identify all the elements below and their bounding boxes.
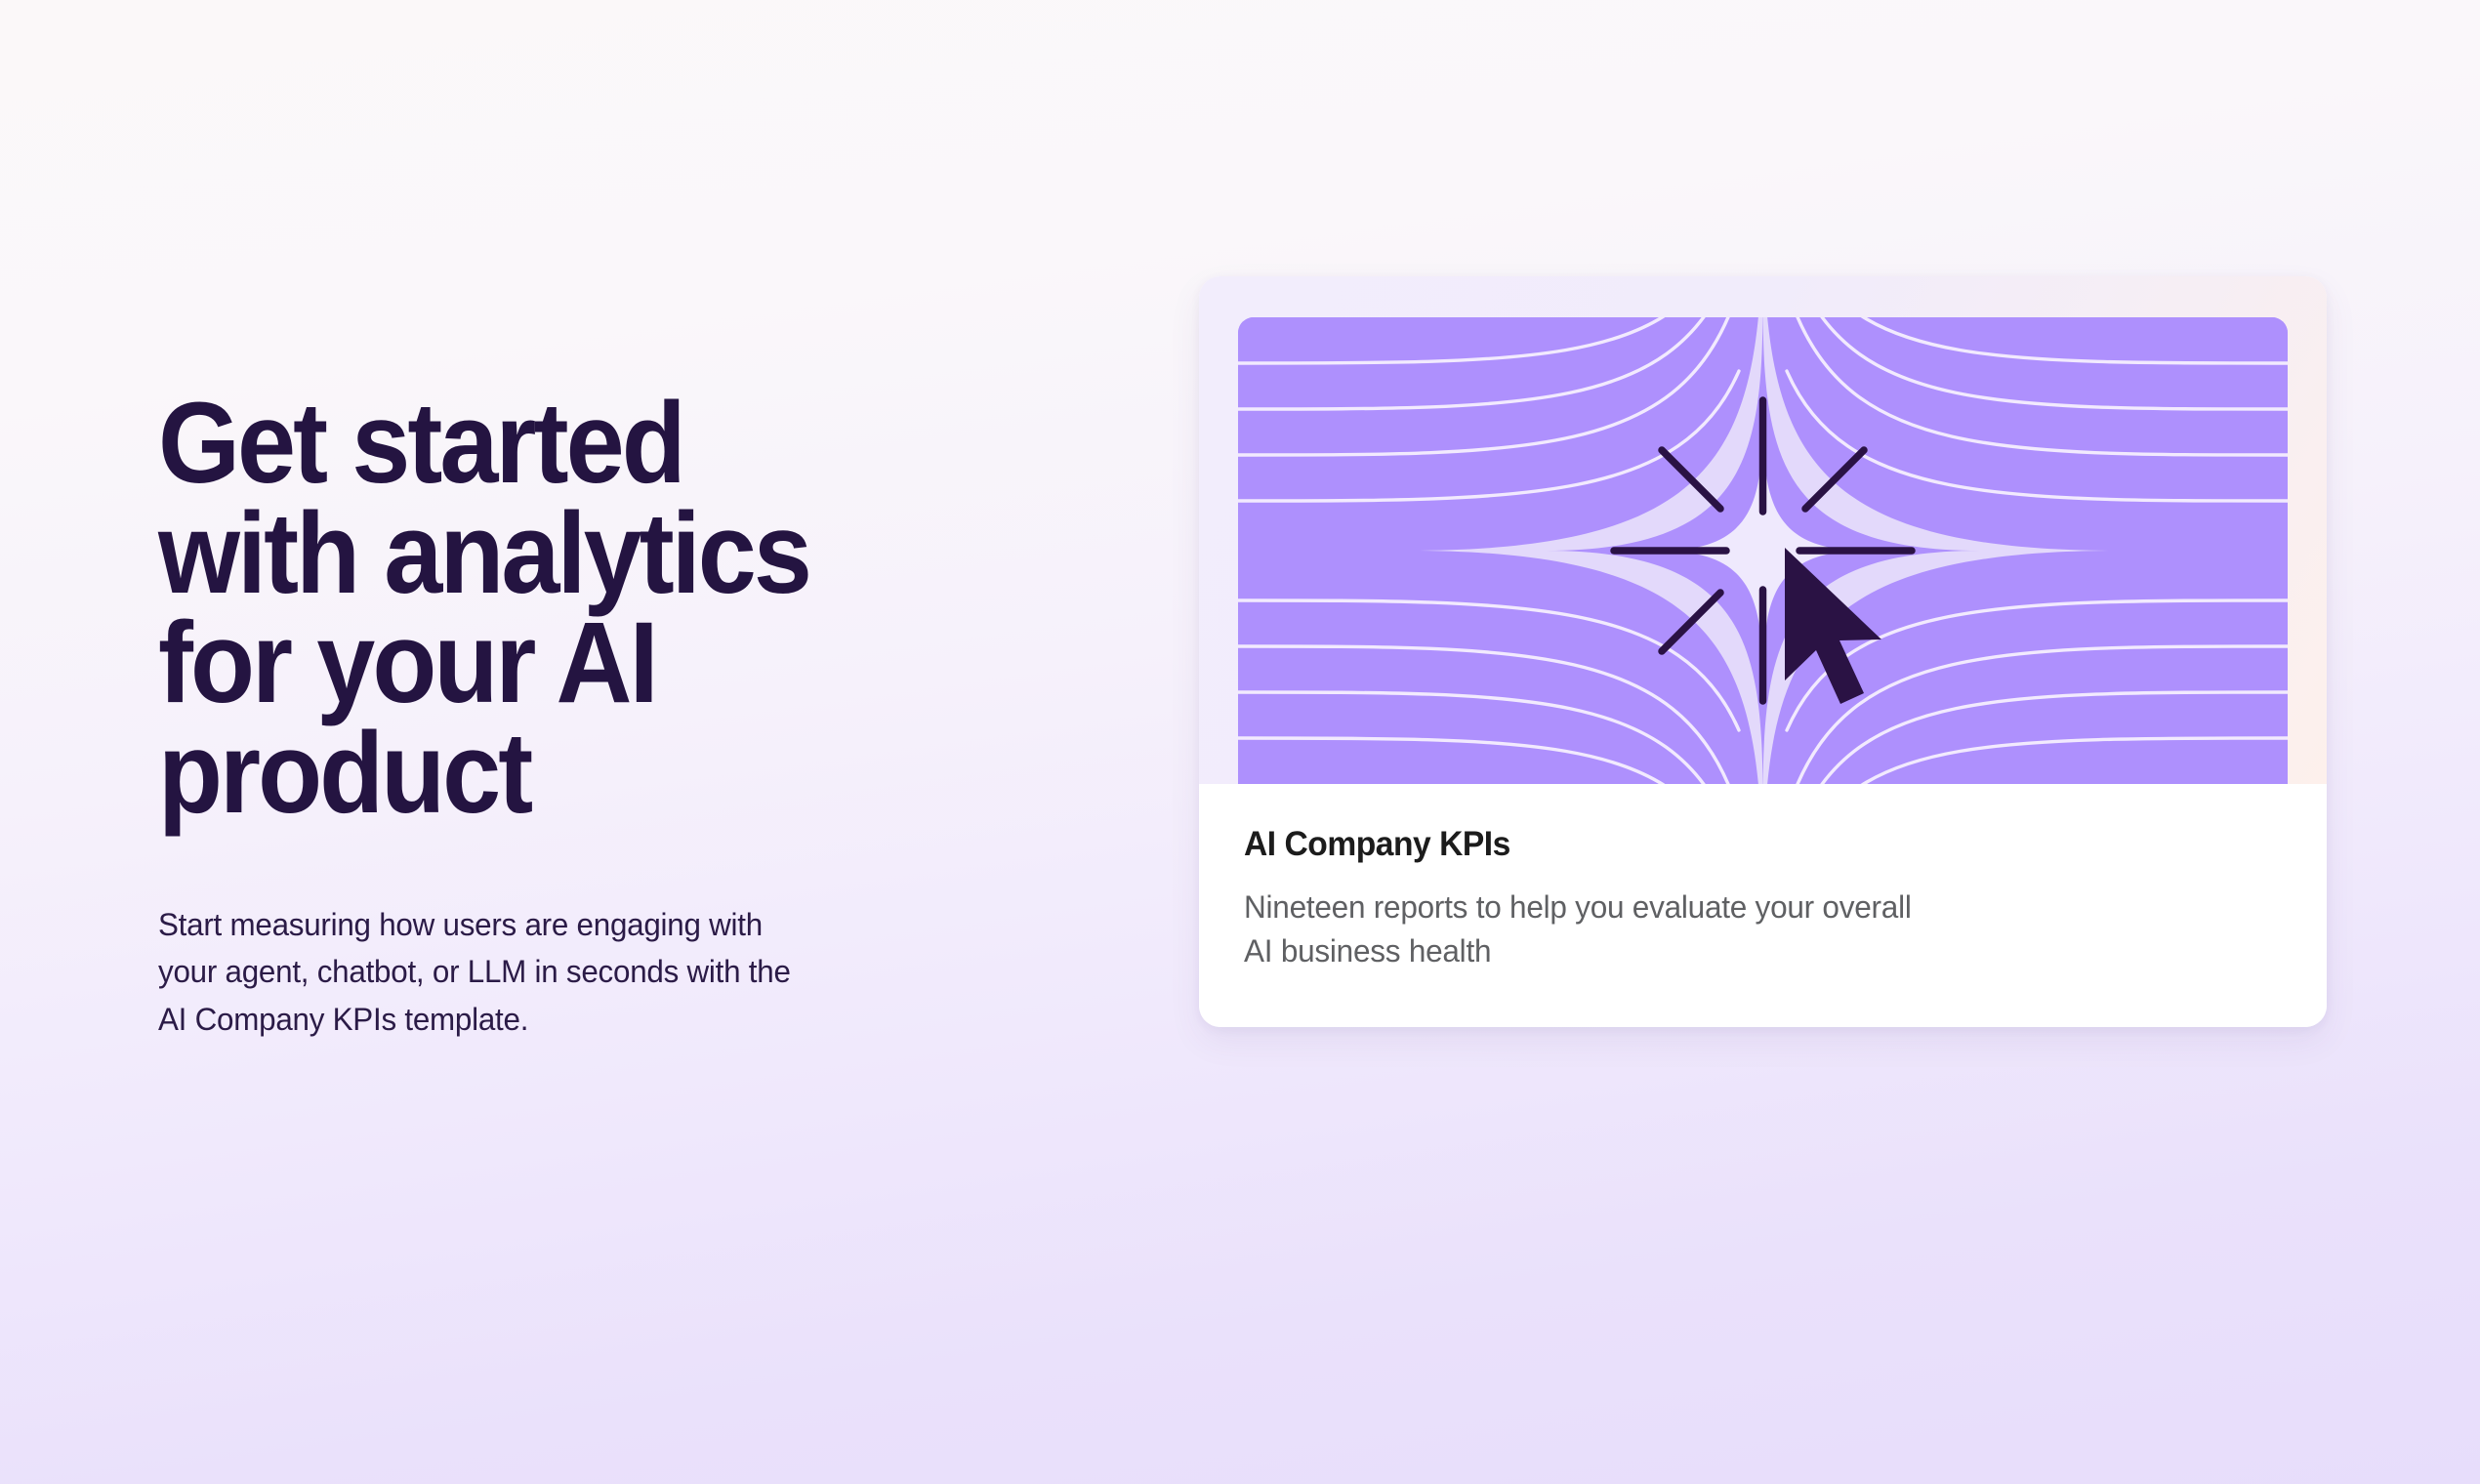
card-body: AI Company KPIs Nineteen reports to help…	[1199, 784, 2327, 1027]
card-title: AI Company KPIs	[1244, 825, 2240, 864]
hero-text-block: Get started with analytics for your AI p…	[158, 389, 1086, 1043]
artwork-svg	[1238, 317, 2288, 784]
card-description: Nineteen reports to help you evaluate yo…	[1244, 886, 2219, 972]
template-card[interactable]: AI Company KPIs Nineteen reports to help…	[1199, 276, 2327, 1027]
sparkle-cursor-illustration	[1238, 317, 2288, 784]
landing-page: Get started with analytics for your AI p…	[0, 0, 2480, 1484]
page-title: Get started with analytics for your AI p…	[158, 389, 1007, 829]
hero-subcopy: Start measuring how users are engaging w…	[158, 901, 1054, 1043]
card-art-frame	[1199, 276, 2327, 784]
